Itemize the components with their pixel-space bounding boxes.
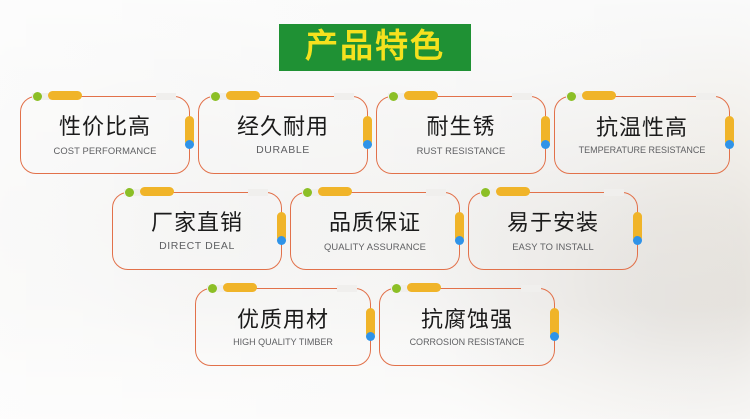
- feature-card-row: 性价比高COST PERFORMANCE经久耐用DURABLE耐生锈RUST R…: [0, 96, 750, 174]
- feature-card[interactable]: 抗温性高TEMPERATURE RESISTANCE: [554, 96, 730, 174]
- card-subtitle-en: EASY TO INSTALL: [512, 241, 594, 252]
- card-content: 易于安装EASY TO INSTALL: [468, 192, 638, 270]
- card-content: 性价比高COST PERFORMANCE: [20, 96, 190, 174]
- feature-card[interactable]: 经久耐用DURABLE: [198, 96, 368, 174]
- card-subtitle-en: DURABLE: [256, 144, 310, 156]
- card-subtitle-en: RUST RESISTANCE: [417, 145, 506, 156]
- card-subtitle-en: CORROSION RESISTANCE: [410, 337, 525, 347]
- card-subtitle-en: TEMPERATURE RESISTANCE: [579, 145, 706, 155]
- section-title-banner: 产品特色: [279, 24, 471, 71]
- feature-card-grid: 性价比高COST PERFORMANCE经久耐用DURABLE耐生锈RUST R…: [0, 96, 750, 384]
- card-title-cn: 抗温性高: [596, 117, 688, 142]
- section-title-text: 产品特色: [305, 29, 445, 62]
- card-title-cn: 性价比高: [59, 116, 151, 141]
- card-title-cn: 耐生锈: [426, 116, 495, 141]
- card-title-cn: 优质用材: [237, 309, 329, 334]
- feature-card[interactable]: 耐生锈RUST RESISTANCE: [376, 96, 546, 174]
- card-content: 抗腐蚀强CORROSION RESISTANCE: [379, 288, 555, 366]
- section-title: 产品特色: [0, 24, 750, 71]
- card-subtitle-en: QUALITY ASSURANCE: [324, 241, 426, 252]
- card-content: 品质保证QUALITY ASSURANCE: [290, 192, 460, 270]
- card-content: 优质用材HIGH QUALITY TIMBER: [195, 288, 371, 366]
- feature-card[interactable]: 性价比高COST PERFORMANCE: [20, 96, 190, 174]
- card-title-cn: 品质保证: [329, 212, 421, 237]
- feature-card[interactable]: 优质用材HIGH QUALITY TIMBER: [195, 288, 371, 366]
- card-title-cn: 厂家直销: [151, 212, 243, 237]
- card-subtitle-en: DIRECT DEAL: [159, 240, 235, 252]
- card-content: 经久耐用DURABLE: [198, 96, 368, 174]
- feature-card[interactable]: 品质保证QUALITY ASSURANCE: [290, 192, 460, 270]
- card-title-cn: 抗腐蚀强: [421, 309, 513, 334]
- feature-card-row: 优质用材HIGH QUALITY TIMBER抗腐蚀强CORROSION RES…: [0, 288, 750, 366]
- feature-highlights-banner: 产品特色 性价比高COST PERFORMANCE经久耐用DURABLE耐生锈R…: [0, 0, 750, 419]
- card-content: 厂家直销DIRECT DEAL: [112, 192, 282, 270]
- card-subtitle-en: HIGH QUALITY TIMBER: [233, 337, 333, 347]
- feature-card[interactable]: 厂家直销DIRECT DEAL: [112, 192, 282, 270]
- card-content: 抗温性高TEMPERATURE RESISTANCE: [554, 96, 730, 174]
- card-title-cn: 易于安装: [507, 212, 599, 237]
- card-subtitle-en: COST PERFORMANCE: [54, 145, 157, 156]
- card-title-cn: 经久耐用: [237, 116, 329, 141]
- feature-card[interactable]: 易于安装EASY TO INSTALL: [468, 192, 638, 270]
- feature-card-row: 厂家直销DIRECT DEAL品质保证QUALITY ASSURANCE易于安装…: [0, 192, 750, 270]
- card-content: 耐生锈RUST RESISTANCE: [376, 96, 546, 174]
- feature-card[interactable]: 抗腐蚀强CORROSION RESISTANCE: [379, 288, 555, 366]
